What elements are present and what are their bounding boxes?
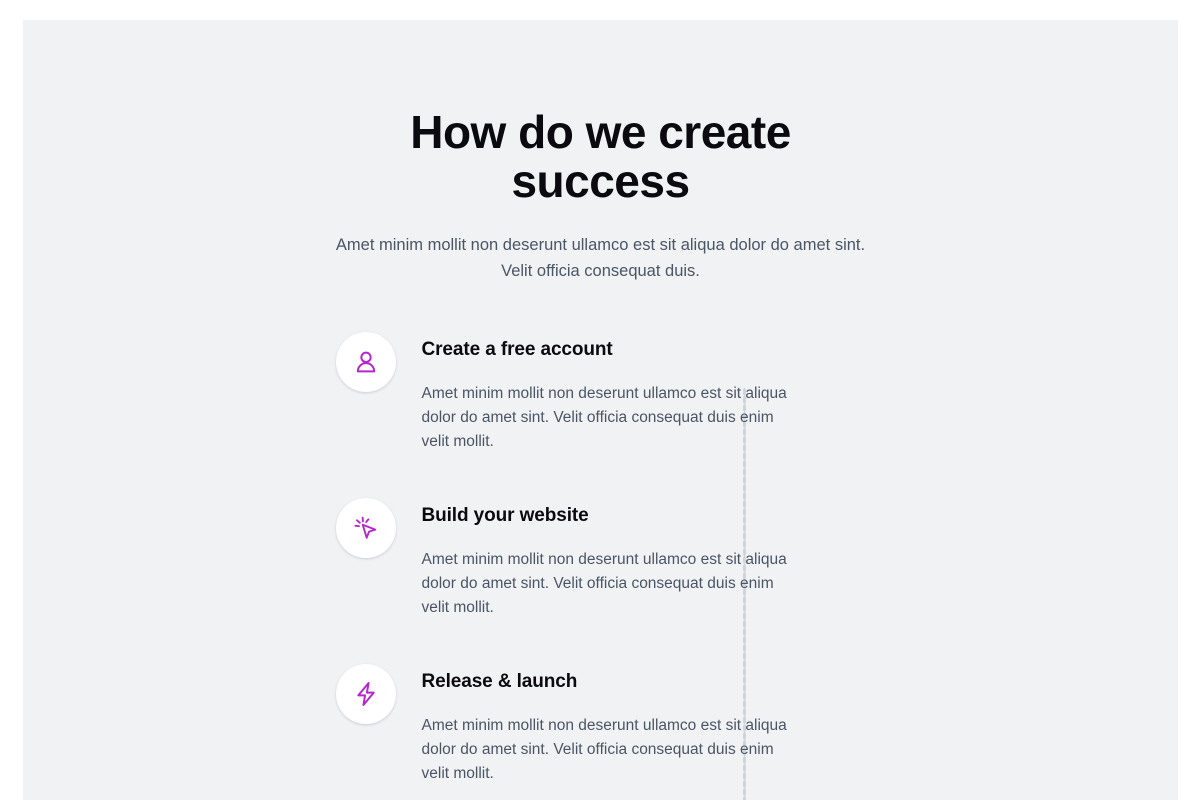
page-content-frame: How do we create success Amet minim moll… <box>23 20 1178 800</box>
step-item: Create a free account Amet minim mollit … <box>336 332 921 454</box>
step-body: Build your website Amet minim mollit non… <box>422 498 802 620</box>
step-body: Release & launch Amet minim mollit non d… <box>422 664 802 786</box>
page-subtitle: Amet minim mollit non deserunt ullamco e… <box>321 232 881 284</box>
step-item: Release & launch Amet minim mollit non d… <box>336 664 921 786</box>
step-description: Amet minim mollit non deserunt ullamco e… <box>422 382 802 454</box>
step-title: Build your website <box>422 504 802 528</box>
step-icon-badge <box>336 664 396 724</box>
steps-timeline: Create a free account Amet minim mollit … <box>281 332 921 786</box>
step-description: Amet minim mollit non deserunt ullamco e… <box>422 548 802 620</box>
step-body: Create a free account Amet minim mollit … <box>422 332 802 454</box>
cursor-click-icon <box>352 514 380 542</box>
lightning-bolt-icon <box>352 680 380 708</box>
step-title: Release & launch <box>422 670 802 694</box>
section-heading-block: How do we create success Amet minim moll… <box>321 108 881 284</box>
step-description: Amet minim mollit non deserunt ullamco e… <box>422 714 802 786</box>
user-icon <box>352 348 380 376</box>
step-icon-badge <box>336 332 396 392</box>
page-title: How do we create success <box>321 108 881 206</box>
how-it-works-section: How do we create success Amet minim moll… <box>23 20 1178 786</box>
step-item: Build your website Amet minim mollit non… <box>336 498 921 620</box>
step-title: Create a free account <box>422 338 802 362</box>
step-icon-badge <box>336 498 396 558</box>
